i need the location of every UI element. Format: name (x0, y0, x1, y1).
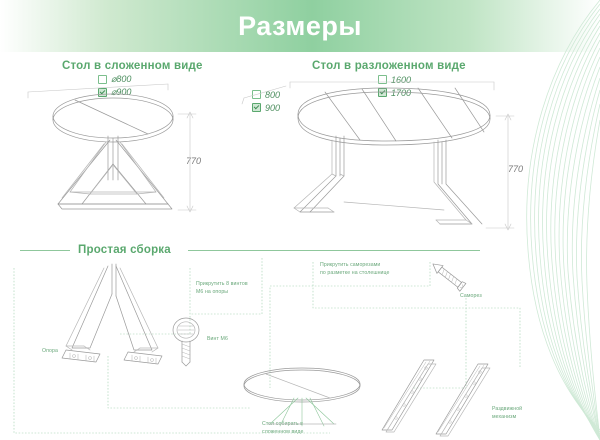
page-title: Размеры (0, 0, 600, 52)
assembly-drawings (0, 238, 600, 440)
dimension-drawings (0, 52, 600, 242)
page-header: Размеры (0, 0, 600, 52)
poster-page: Размеры Стол в сложенном виде ⌀800 (0, 0, 600, 440)
